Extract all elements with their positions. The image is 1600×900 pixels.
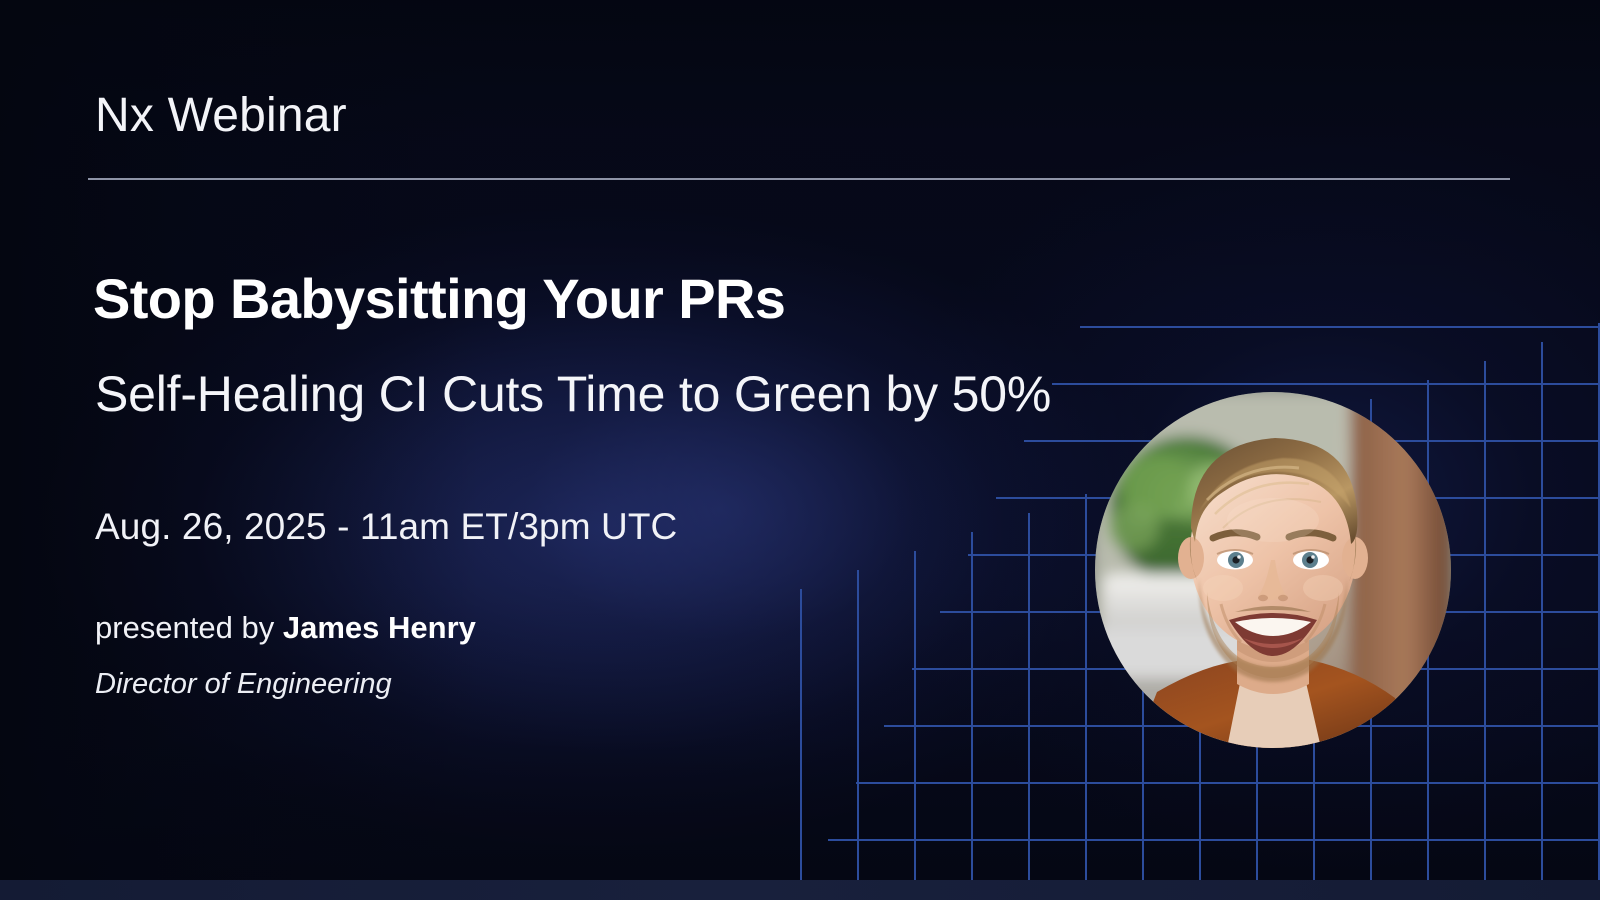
presenter-role: Director of Engineering [95,668,392,701]
page-subtitle: Self-Healing CI Cuts Time to Green by 50… [95,358,1105,430]
content-layer: Nx Webinar Stop Babysitting Your PRs Sel… [0,0,1600,900]
presenter-name: James Henry [283,610,476,645]
speaker-headshot-image [1095,392,1451,748]
webinar-kicker: Nx Webinar [95,88,347,143]
presented-by-label: presented by [95,610,283,645]
presenter-line: presented by James Henry [95,610,476,646]
page-title: Stop Babysitting Your PRs [93,268,785,331]
avatar [1095,392,1451,748]
webinar-promo-card: Nx Webinar Stop Babysitting Your PRs Sel… [0,0,1600,900]
event-datetime: Aug. 26, 2025 - 11am ET/3pm UTC [95,506,677,548]
header-divider [88,178,1510,180]
